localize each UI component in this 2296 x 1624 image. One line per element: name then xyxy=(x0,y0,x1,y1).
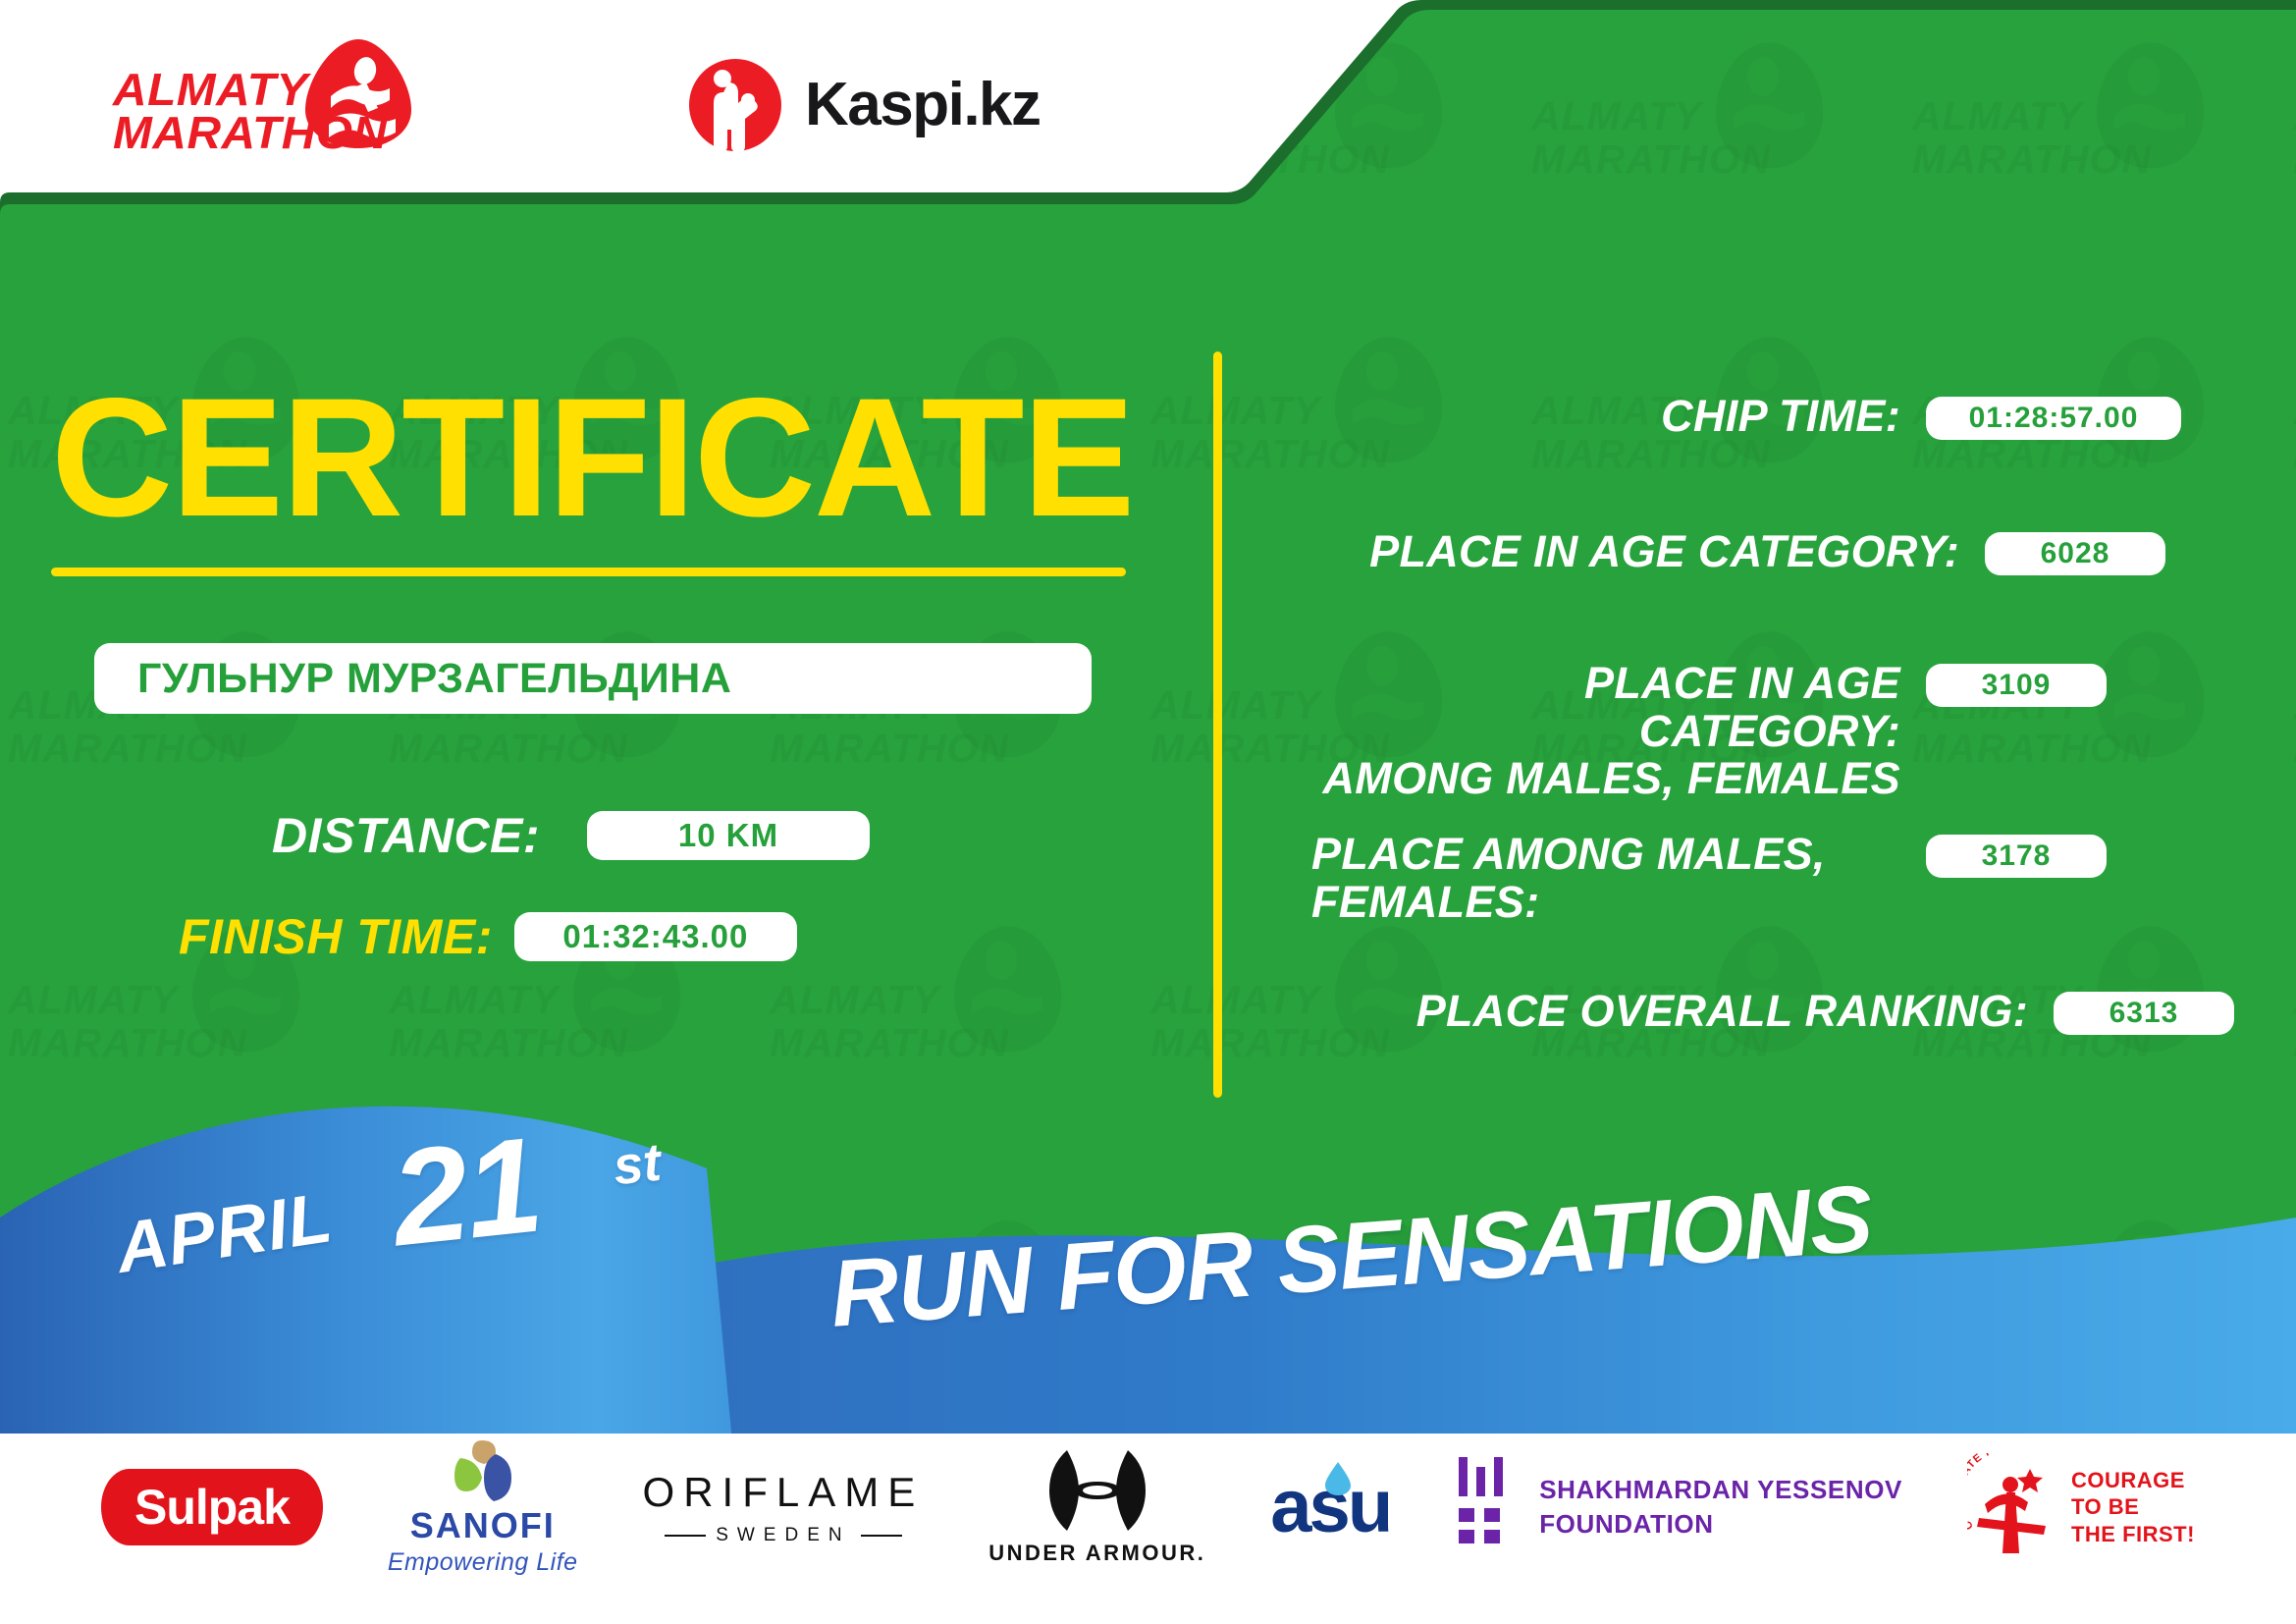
almaty-marathon-line1: ALMATY xyxy=(113,69,388,112)
asu-logo: asu xyxy=(1270,1470,1390,1544)
yessenov-bars-icon xyxy=(1455,1457,1516,1557)
stat-value: 6028 xyxy=(1985,532,2165,575)
stat-value: 3178 xyxy=(1926,835,2107,878)
stat-value: 01:28:57.00 xyxy=(1926,397,2181,440)
asu-droplet-icon xyxy=(1325,1462,1351,1495)
finish-time-value: 01:32:43.00 xyxy=(514,912,797,961)
header-bar: ALMATY MARATHON Kaspi.kz xyxy=(0,0,1235,192)
sulpak-logo: Sulpak xyxy=(101,1469,323,1545)
page-title: CERTIFICATE xyxy=(51,373,1133,542)
distance-row: DISTANCE: 10 KM xyxy=(272,807,870,864)
corporate-fund-figure-icon: CORPORATE FUND xyxy=(1967,1453,2061,1561)
under-armour-icon xyxy=(1049,1448,1146,1533)
vertical-divider xyxy=(1213,352,1222,1098)
yessenov-line2: FOUNDATION xyxy=(1539,1507,1902,1542)
sponsor-strip: Sulpak SANOFI Empowering Life ORIFLAME S… xyxy=(0,1429,2296,1586)
ribbon-day-suffix: st xyxy=(611,1132,664,1198)
kaspi-logo: Kaspi.kz xyxy=(687,57,1041,153)
sponsor-sanofi: SANOFI Empowering Life xyxy=(388,1443,578,1571)
distance-label: DISTANCE: xyxy=(272,807,540,864)
oriflame-logo: ORIFLAME SWEDEN xyxy=(643,1469,925,1546)
almaty-marathon-line2: MARATHON xyxy=(113,112,388,155)
sanofi-tagline: Empowering Life xyxy=(388,1548,578,1577)
stat-label: PLACE IN AGE CATEGORY: xyxy=(1311,528,1959,576)
oriflame-wordmark: ORIFLAME xyxy=(643,1469,925,1516)
certificate-canvas: ALMATY MARATHON xyxy=(0,0,2296,1624)
distance-value: 10 KM xyxy=(587,811,870,860)
stat-row-chip-time: CHIP TIME: 01:28:57.00 xyxy=(1311,393,2181,441)
oriflame-sweden-text: SWEDEN xyxy=(716,1525,850,1546)
oriflame-sub: SWEDEN xyxy=(665,1525,901,1546)
yessenov-line1: SHAKHMARDAN YESSENOV xyxy=(1539,1473,1902,1507)
stat-label: PLACE AMONG MALES, FEMALES: xyxy=(1311,831,1900,926)
oriflame-dash-left xyxy=(665,1535,706,1537)
sanofi-logo: SANOFI Empowering Life xyxy=(388,1438,578,1577)
almaty-marathon-wordmark: ALMATY MARATHON xyxy=(113,69,388,154)
participant-name-value: ГУЛЬНУР МУРЗАГЕЛЬДИНА xyxy=(137,655,731,703)
corporate-fund-line2: TO BE xyxy=(2071,1493,2195,1521)
under-armour-wordmark: UNDER ARMOUR. xyxy=(988,1541,1205,1566)
kaspi-wordmark: Kaspi.kz xyxy=(805,75,1041,135)
stat-label: CHIP TIME: xyxy=(1311,393,1900,441)
stat-row-place-among-males-females: PLACE AMONG MALES, FEMALES: 3178 xyxy=(1311,831,2107,926)
corporate-fund-wordmark: COURAGE TO BE THE FIRST! xyxy=(2071,1467,2195,1548)
stat-label: PLACE OVERALL RANKING: xyxy=(1311,988,2028,1036)
stat-label: PLACE IN AGE CATEGORY: AMONG MALES, FEMA… xyxy=(1311,660,1900,803)
stat-row-place-overall-ranking: PLACE OVERALL RANKING: 6313 xyxy=(1311,988,2234,1036)
kaspi-people-icon xyxy=(687,57,783,153)
corporate-fund-line1: COURAGE xyxy=(2071,1467,2195,1494)
yessenov-wordmark: SHAKHMARDAN YESSENOV FOUNDATION xyxy=(1539,1473,1902,1542)
stat-value: 6313 xyxy=(2054,992,2234,1035)
ribbon-day: 21 xyxy=(385,1108,547,1278)
sponsor-asu: asu xyxy=(1270,1443,1390,1571)
participant-name-field: ГУЛЬНУР МУРЗАГЕЛЬДИНА xyxy=(94,643,1092,714)
stat-row-place-age-category: PLACE IN AGE CATEGORY: 6028 xyxy=(1311,528,2165,576)
title-underline-rule xyxy=(51,568,1126,576)
sponsor-yessenov-foundation: SHAKHMARDAN YESSENOV FOUNDATION xyxy=(1455,1443,1902,1571)
sponsor-oriflame: ORIFLAME SWEDEN xyxy=(643,1443,925,1571)
finish-time-row: FINISH TIME: 01:32:43.00 xyxy=(179,908,797,965)
sanofi-mark-icon xyxy=(449,1438,517,1503)
sponsor-under-armour: UNDER ARMOUR. xyxy=(988,1443,1205,1571)
stat-row-place-age-category-among: PLACE IN AGE CATEGORY: AMONG MALES, FEMA… xyxy=(1311,660,2107,803)
stat-value: 3109 xyxy=(1926,664,2107,707)
sponsor-corporate-fund: CORPORATE FUND COURAGE TO BE THE FIRST! xyxy=(1967,1443,2195,1571)
oriflame-dash-right xyxy=(861,1535,902,1537)
sanofi-wordmark: SANOFI xyxy=(410,1505,556,1546)
sponsor-sulpak: Sulpak xyxy=(101,1443,323,1571)
almaty-marathon-logo: ALMATY MARATHON xyxy=(113,43,417,156)
corporate-fund-logo: CORPORATE FUND COURAGE TO BE THE FIRST! xyxy=(1967,1453,2195,1561)
corporate-fund-line3: THE FIRST! xyxy=(2071,1521,2195,1548)
yessenov-logo: SHAKHMARDAN YESSENOV FOUNDATION xyxy=(1455,1457,1902,1557)
under-armour-logo: UNDER ARMOUR. xyxy=(988,1448,1205,1566)
finish-time-label: FINISH TIME: xyxy=(179,908,493,965)
